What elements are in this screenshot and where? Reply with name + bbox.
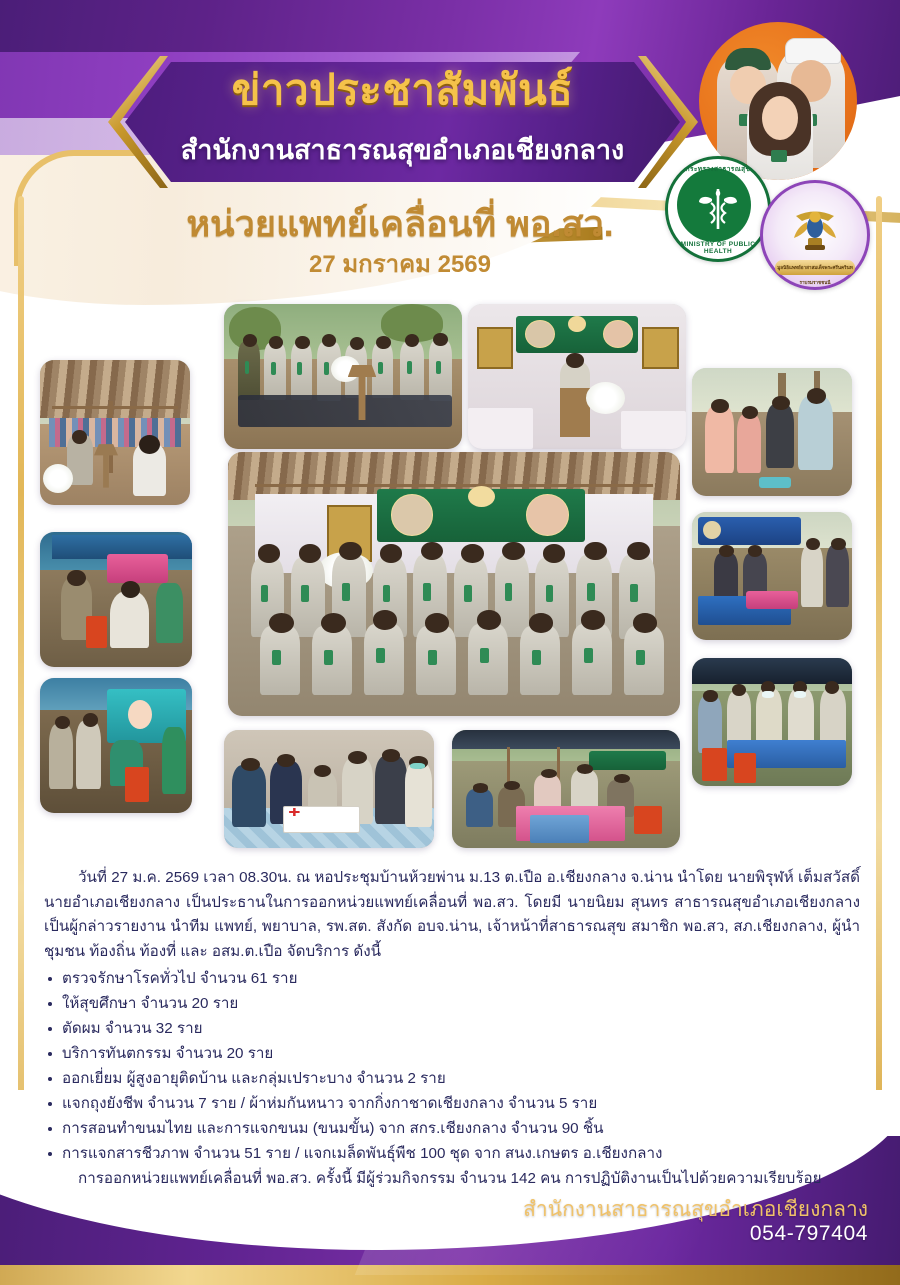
list-item: ออกเยี่ยม ผู้สูงอายุติดบ้าน และกลุ่มเปรา… [44,1066,860,1091]
banner-subtitle: สำนักงานสาธารณสุขอำเภอเชียงกลาง [125,128,680,171]
photo-haircut-service [40,532,192,667]
body-paragraph: วันที่ 27 ม.ค. 2569 เวลา 08.30น. ณ หอประ… [44,866,860,964]
ministry-of-public-health-logo: กระทรวงสาธารณสุข MINISTRY OF PUBLIC HEAL… [665,156,771,262]
moph-english-label: MINISTRY OF PUBLIC HEALTH [668,241,768,255]
body-text-block: วันที่ 27 ม.ค. 2569 เวลา 08.30น. ณ หอประ… [44,866,860,1191]
list-item: แจกถุงยังชีพ จำนวน 7 ราย / ผ้าห่มกันหนาว… [44,1091,860,1116]
photo-service-tables-tent [452,730,680,848]
photo-opening-ceremony-hall [40,360,190,505]
photo-chairman-podium [468,304,686,449]
closing-line: การออกหน่วยแพทย์เคลื่อนที่ พอ.สว. ครั้งน… [44,1166,860,1191]
photo-info-booth [692,512,852,640]
porsorwor-ribbon-label: มูลนิธิแพทย์อาสาสมเด็จพระศรีนครินทราบรมร… [775,260,855,275]
porsorwor-royal-emblem: มูลนิธิแพทย์อาสาสมเด็จพระศรีนครินทราบรมร… [760,180,870,290]
list-item: ตรวจรักษาโรคทั่วไป จำนวน 61 ราย [44,966,860,991]
photo-officials-line-up [224,304,462,449]
right-gold-rule [876,196,882,1096]
moph-thai-label: กระทรวงสาธารณสุข [668,164,768,174]
caduceus-icon [698,185,738,233]
list-item: การแจกสารชีวภาพ จำนวน 51 ราย / แจกเมล็ดพ… [44,1141,860,1166]
list-item: ให้สุขศึกษา จำนวน 20 ราย [44,991,860,1016]
photo-health-screening-tent [40,678,192,813]
photo-group-photo-main [228,452,680,716]
photo-weighing-children [692,368,852,496]
photo-home-visit-redcross [224,730,434,848]
footer-phone: 054-797404 [750,1222,868,1246]
banner-title: ข่าวประชาสัมพันธ์ [125,68,680,112]
event-date: 27 มกราคม 2569 [120,244,680,283]
list-item: บริการทันตกรรม จำนวน 20 ราย [44,1041,860,1066]
left-gold-rule [18,196,24,1186]
list-item: การสอนทำขนมไทย และการแจกขนม (ขนมขั้น) จา… [44,1116,860,1141]
garuda-icon [786,200,844,258]
photo-registration-desk [692,658,852,786]
service-list: ตรวจรักษาโรคทั่วไป จำนวน 61 ราย ให้สุขศึ… [44,966,860,1191]
list-item: ตัดผม จำนวน 32 ราย [44,1016,860,1041]
